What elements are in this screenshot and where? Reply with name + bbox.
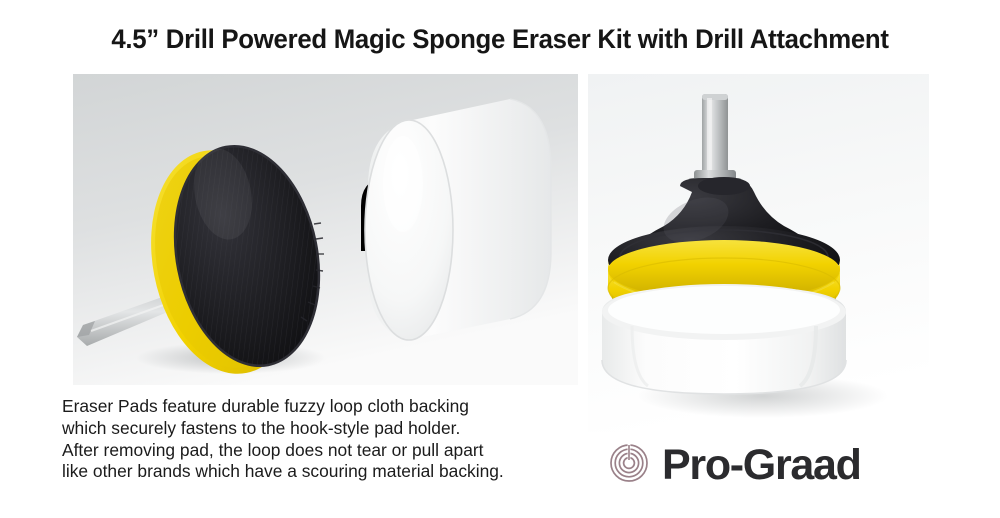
description-line: Eraser Pads feature durable fuzzy loop c…: [62, 396, 582, 418]
magic-sponge-illustration: [365, 99, 551, 340]
page-title: 4.5” Drill Powered Magic Sponge Eraser K…: [23, 24, 978, 55]
brand-logo: Pro-Graad: [609, 443, 861, 488]
product-banner: 4.5” Drill Powered Magic Sponge Eraser K…: [0, 0, 1000, 518]
assembled-kit-photo: MM MAX: [588, 74, 929, 432]
concentric-rings-icon: [609, 443, 649, 488]
pad-holder-photo: [73, 74, 578, 385]
description-line: like other brands which have a scouring …: [62, 461, 582, 483]
description-line: which securely fastens to the hook-style…: [62, 418, 582, 440]
brand-wordmark: Pro-Graad: [662, 444, 861, 487]
description-line: After removing pad, the loop does not te…: [62, 440, 582, 462]
description-text: Eraser Pads feature durable fuzzy loop c…: [62, 396, 582, 483]
assembled-kit-illustration: MM MAX: [588, 74, 929, 432]
pad-holder-illustration: [73, 74, 578, 385]
